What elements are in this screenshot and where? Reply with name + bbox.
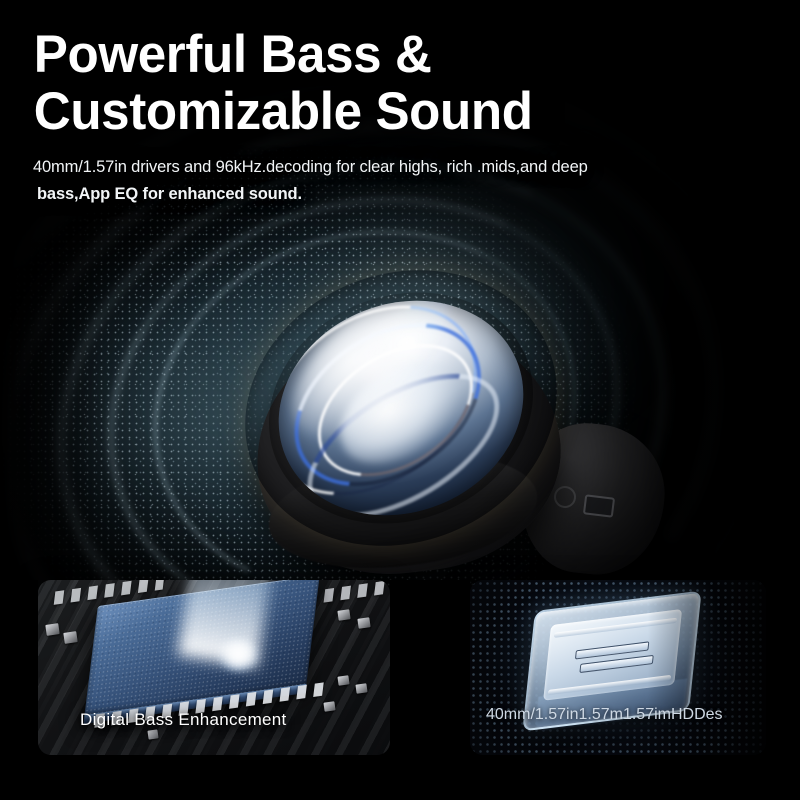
panel-caption-left: Digital Bass Enhancement (80, 710, 287, 730)
subtitle-line-2: bass,App EQ for enhanced sound. (33, 181, 800, 208)
light-beam-core (216, 638, 260, 672)
subtitle: 40mm/1.57in drivers and 96kHz.decoding f… (0, 140, 800, 208)
panel-digital-bass-enhancement: Digital Bass Enhancement (38, 580, 390, 755)
smd-component (147, 729, 158, 739)
speaker-driver-image (232, 268, 592, 568)
dot-background-fade (470, 580, 766, 755)
bottom-black-bar (0, 755, 800, 800)
panel-driver-spec: 40mm/1.57in1.57m1.57imHDDes (470, 580, 766, 755)
page-title: Powerful Bass & Customizable Sound (0, 0, 772, 140)
subtitle-line-1: 40mm/1.57in drivers and 96kHz.decoding f… (33, 158, 588, 176)
headline-line-2: Customizable Sound (34, 83, 772, 140)
hero-copy-block: Powerful Bass & Customizable Sound 40mm/… (0, 0, 800, 208)
smd-component (357, 617, 370, 629)
smd-component (45, 623, 59, 636)
smd-component (337, 609, 350, 621)
smd-component (323, 701, 335, 711)
smd-component (355, 683, 367, 693)
product-marketing-poster: Powerful Bass & Customizable Sound 40mm/… (0, 0, 800, 800)
driver-side-port (583, 494, 615, 518)
smd-component (337, 675, 349, 685)
smd-component (63, 631, 77, 644)
panel-caption-right: 40mm/1.57in1.57m1.57imHDDes (486, 706, 723, 724)
headline-line-1: Powerful Bass & (34, 0, 772, 83)
